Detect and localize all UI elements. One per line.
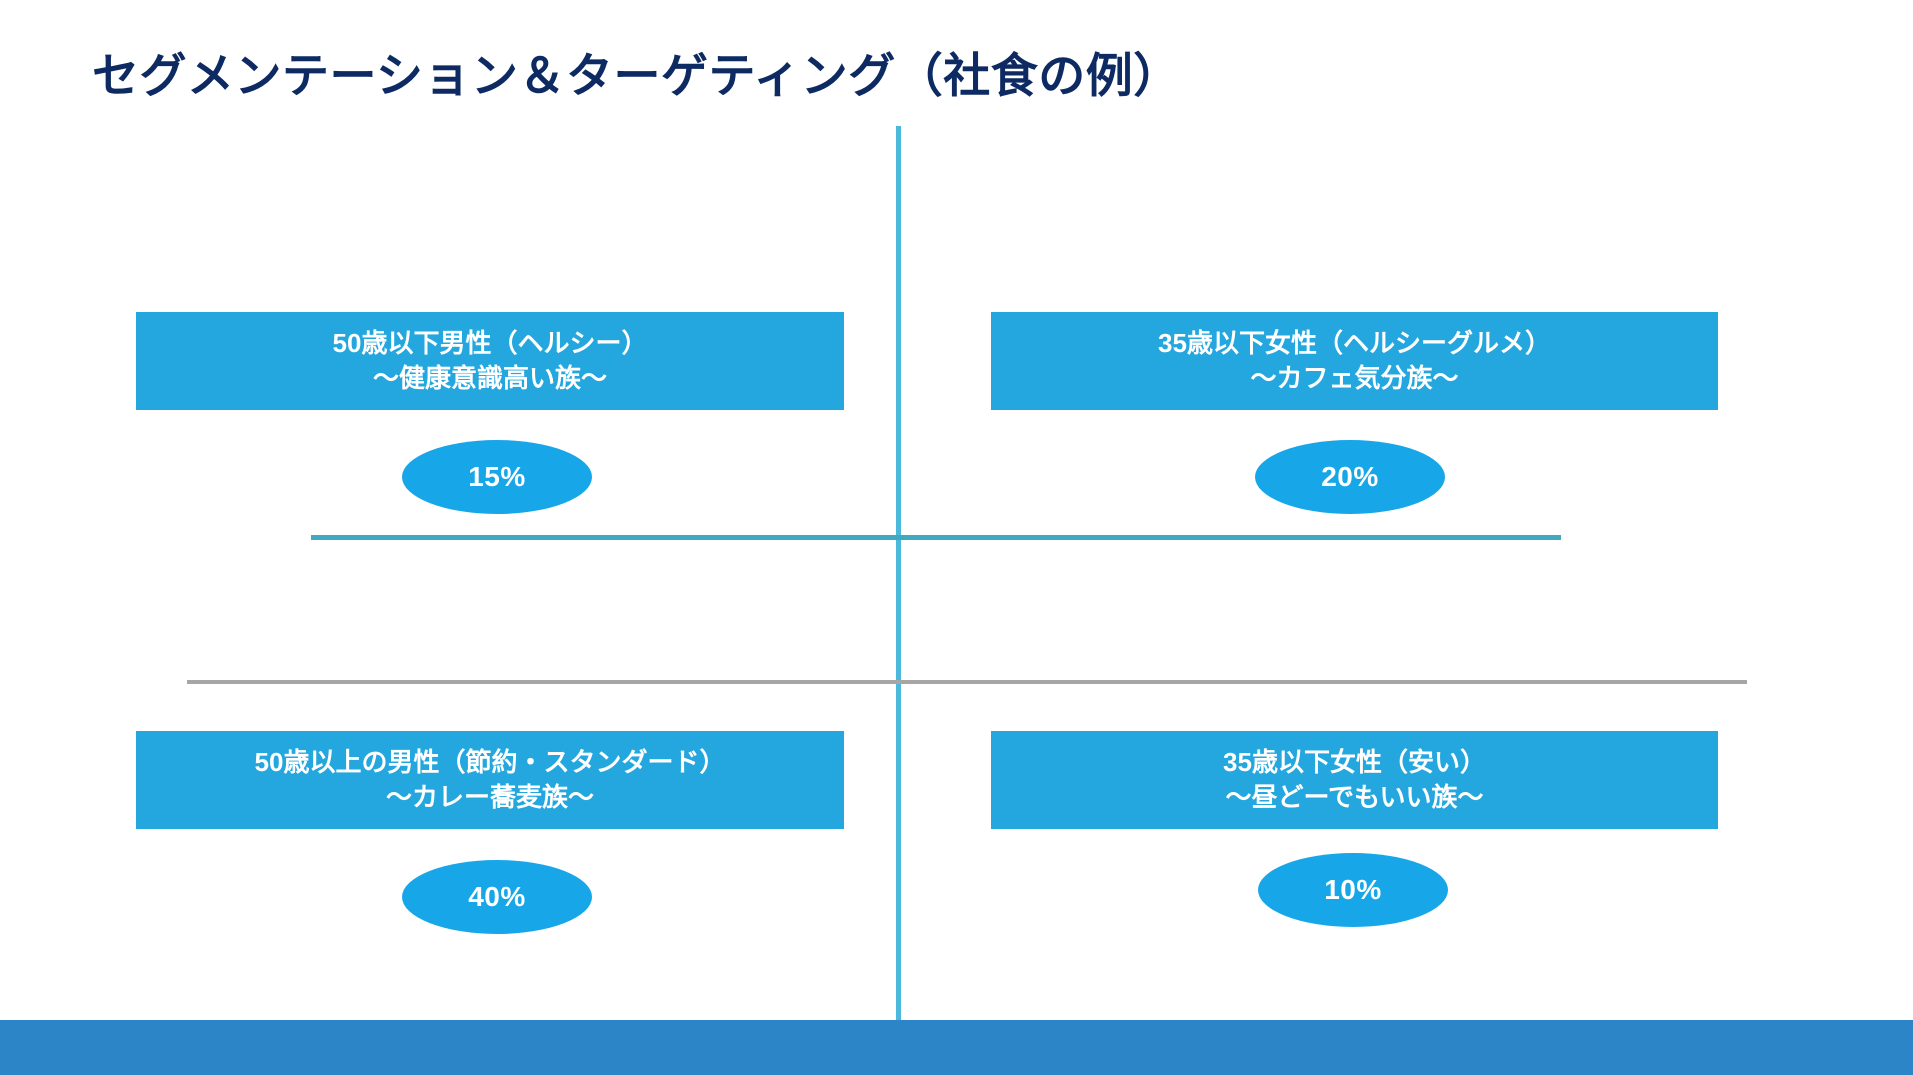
segment-label-line2: 〜カレー蕎麦族〜: [386, 780, 594, 815]
segment-box-top-right: 35歳以下女性（ヘルシーグルメ） 〜カフェ気分族〜: [991, 312, 1718, 410]
segment-percent-bottom-right: 10%: [1258, 853, 1448, 927]
axis-horizontal-upper-divider: [311, 535, 1561, 540]
segment-percent-top-right: 20%: [1255, 440, 1445, 514]
segment-label-line1: 50歳以下男性（ヘルシー）: [333, 326, 648, 361]
slide-canvas: セグメンテーション＆ターゲティング（社食の例） 50歳以下男性（ヘルシー） 〜健…: [0, 0, 1913, 1075]
segment-label-line1: 35歳以下女性（安い）: [1223, 745, 1486, 780]
footer-accent-bar: [0, 1020, 1913, 1075]
segment-label-line2: 〜カフェ気分族〜: [1250, 361, 1458, 396]
segment-label-line2: 〜健康意識高い族〜: [373, 361, 607, 396]
segment-percent-top-left: 15%: [402, 440, 592, 514]
segment-box-bottom-right: 35歳以下女性（安い） 〜昼どーでもいい族〜: [991, 731, 1718, 829]
segment-label-line1: 35歳以下女性（ヘルシーグルメ）: [1158, 326, 1551, 361]
segment-box-top-left: 50歳以下男性（ヘルシー） 〜健康意識高い族〜: [136, 312, 844, 410]
axis-vertical-divider: [896, 126, 901, 1024]
segment-label-line1: 50歳以上の男性（節約・スタンダード）: [255, 745, 726, 780]
page-title: セグメンテーション＆ターゲティング（社食の例）: [92, 48, 1181, 104]
segment-label-line2: 〜昼どーでもいい族〜: [1226, 780, 1484, 815]
axis-horizontal-lower-divider: [187, 680, 1747, 684]
segment-box-bottom-left: 50歳以上の男性（節約・スタンダード） 〜カレー蕎麦族〜: [136, 731, 844, 829]
segment-percent-bottom-left: 40%: [402, 860, 592, 934]
